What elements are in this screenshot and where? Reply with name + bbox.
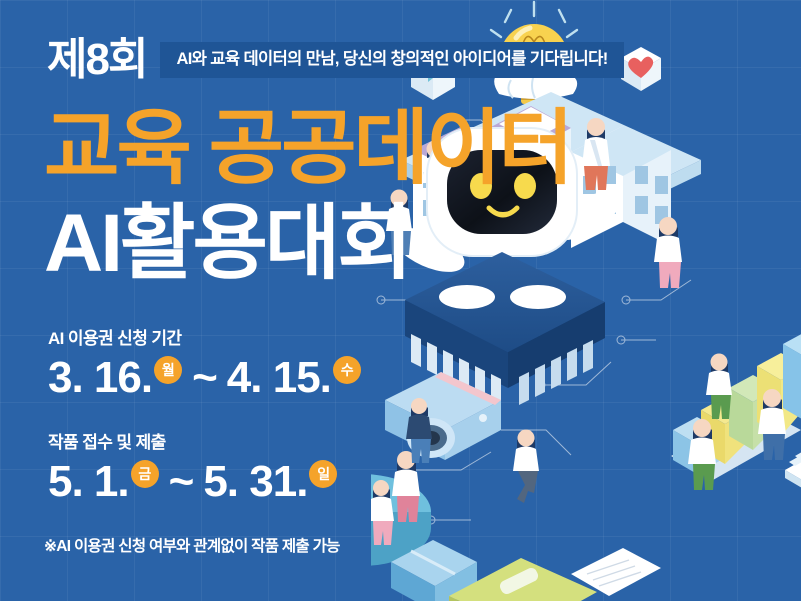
date-separator: ~: [192, 356, 217, 400]
start-date: 5. 1.: [48, 460, 129, 504]
illustration-artwork: [371, 0, 801, 601]
poster-canvas: 제8회 AI와 교육 데이터의 만남, 당신의 창의적인 아이디어를 기다립니다…: [0, 0, 801, 601]
clipboard-documents: [449, 548, 661, 601]
edition-number: 제8회: [47, 38, 146, 82]
start-day-badge: 금: [131, 460, 159, 488]
poster-header: 제8회 AI와 교육 데이터의 만남, 당신의 창의적인 아이디어를 기다립니다…: [47, 38, 624, 82]
date-separator: ~: [169, 460, 194, 504]
start-date: 3. 16.: [48, 356, 152, 400]
people-figures: [371, 190, 786, 546]
schedule-label: AI 이용권 신청 기간: [48, 330, 363, 347]
end-date: 5. 31.: [203, 460, 307, 504]
title-line-2: AI활용대회: [44, 203, 410, 285]
schedule-date-range: 3. 16. 월 ~ 4. 15. 수: [48, 356, 363, 400]
end-day-badge: 일: [309, 460, 337, 488]
start-day-badge: 월: [154, 356, 182, 384]
tagline-text: AI와 교육 데이터의 만남, 당신의 창의적인 아이디어를 기다립니다!: [176, 51, 607, 68]
video-camera: [385, 372, 501, 460]
book-heart-icon: [621, 47, 661, 91]
schedule-date-range: 5. 1. 금 ~ 5. 31. 일: [48, 460, 339, 504]
schedule-block-application: AI 이용권 신청 기간 3. 16. 월 ~ 4. 15. 수: [48, 330, 363, 400]
end-day-badge: 수: [333, 356, 361, 384]
package-box: [391, 540, 477, 601]
pie-chart: [371, 474, 431, 566]
bar-chart: [671, 331, 801, 492]
tagline-banner: AI와 교육 데이터의 만남, 당신의 창의적인 아이디어를 기다립니다!: [160, 42, 623, 78]
title-line-1: 교육 공공데이터: [44, 108, 571, 190]
footnote-text: ※AI 이용권 신청 여부와 관계없이 작품 제출 가능: [44, 534, 340, 556]
schedule-label: 작품 접수 및 제출: [48, 434, 339, 451]
schedule-block-submission: 작품 접수 및 제출 5. 1. 금 ~ 5. 31. 일: [48, 434, 339, 504]
cpu-chip: [395, 252, 617, 407]
end-date: 4. 15.: [227, 356, 331, 400]
